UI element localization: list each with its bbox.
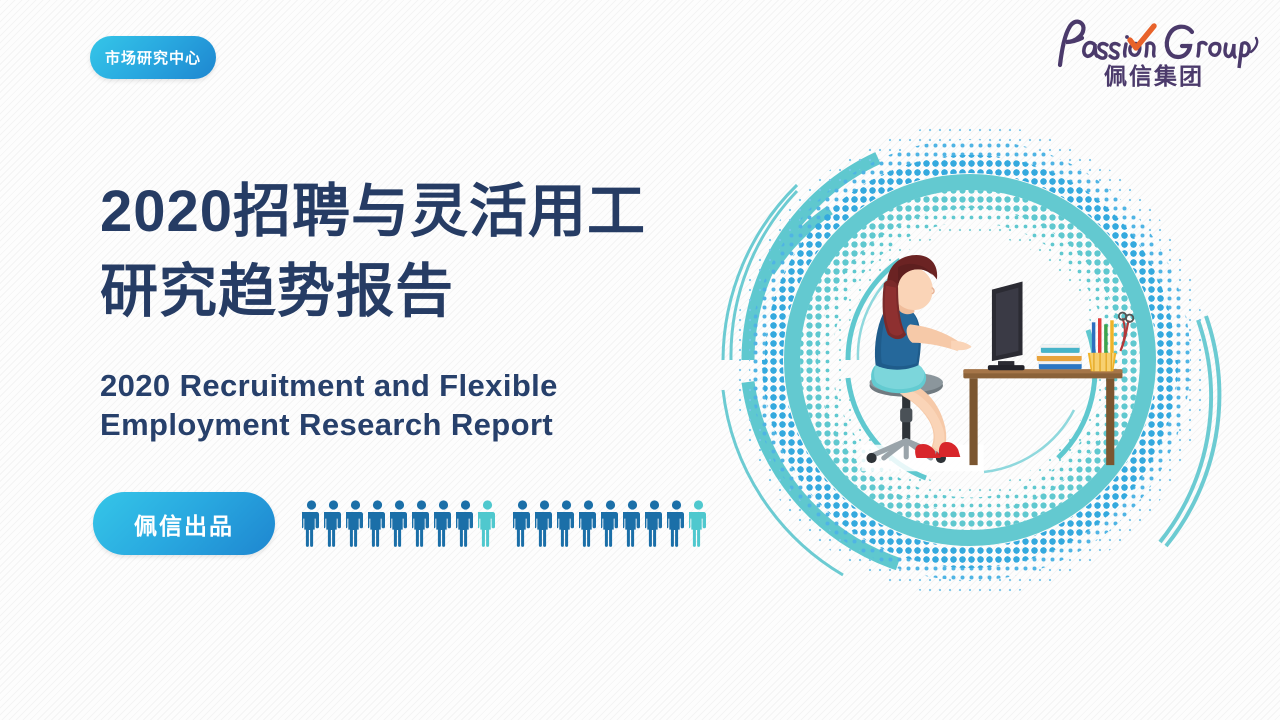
person-icon — [324, 500, 343, 547]
title-line-1: 2020招聘与灵活用工 — [100, 172, 740, 252]
logo-wordmark-glyphs — [1060, 22, 1257, 68]
market-research-center-badge[interactable]: 市场研究中心 — [90, 36, 216, 79]
person-icon — [368, 500, 387, 547]
person-icon-highlighted — [478, 500, 497, 547]
person-icon — [346, 500, 365, 547]
person-icon-highlighted — [689, 500, 708, 547]
person-icon — [390, 500, 409, 547]
book-stack — [1037, 345, 1082, 369]
slide-canvas: 市场研究中心 — [0, 0, 1280, 720]
person-icon — [412, 500, 431, 547]
title-line-2: 研究趋势报告 — [100, 252, 740, 332]
person-icon — [667, 500, 686, 547]
person-icon — [513, 500, 532, 547]
person-icon — [557, 500, 576, 547]
person-icon — [535, 500, 554, 547]
person-icon — [601, 500, 620, 547]
subtitle-line-2: Employment Research Report — [100, 405, 720, 444]
tech-ring-illustration — [715, 105, 1225, 615]
produced-by-badge[interactable]: 佩信出品 — [93, 492, 275, 555]
logo-chinese-name: 佩信集团 — [1104, 63, 1204, 89]
people-pictogram-group-2 — [513, 500, 708, 547]
passion-group-logo: 佩信集团 — [1046, 8, 1264, 92]
person-icon — [456, 500, 475, 547]
person-icon — [579, 500, 598, 547]
people-pictogram-group-1 — [302, 500, 497, 547]
subtitle-line-1: 2020 Recruitment and Flexible — [100, 366, 720, 405]
person-icon — [434, 500, 453, 547]
person-icon — [645, 500, 664, 547]
person-icon — [623, 500, 642, 547]
page-title: 2020招聘与灵活用工 研究趋势报告 — [100, 172, 740, 332]
person-icon — [302, 500, 321, 547]
page-subtitle: 2020 Recruitment and Flexible Employment… — [100, 366, 720, 444]
